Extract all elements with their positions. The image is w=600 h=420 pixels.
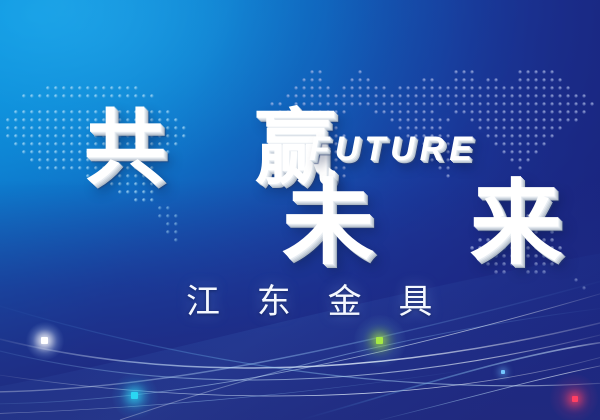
- headline-english-future: FUTURE: [309, 130, 477, 169]
- headline-secondary-chinese: 未 来: [282, 178, 594, 270]
- promotional-banner: 共 赢 FUTURE 未 来 江 东 金 具: [0, 0, 600, 420]
- company-name: 江 东 金 具: [186, 274, 445, 323]
- headline-text-layer: 共 赢 FUTURE 未 来 江 东 金 具: [0, 0, 600, 420]
